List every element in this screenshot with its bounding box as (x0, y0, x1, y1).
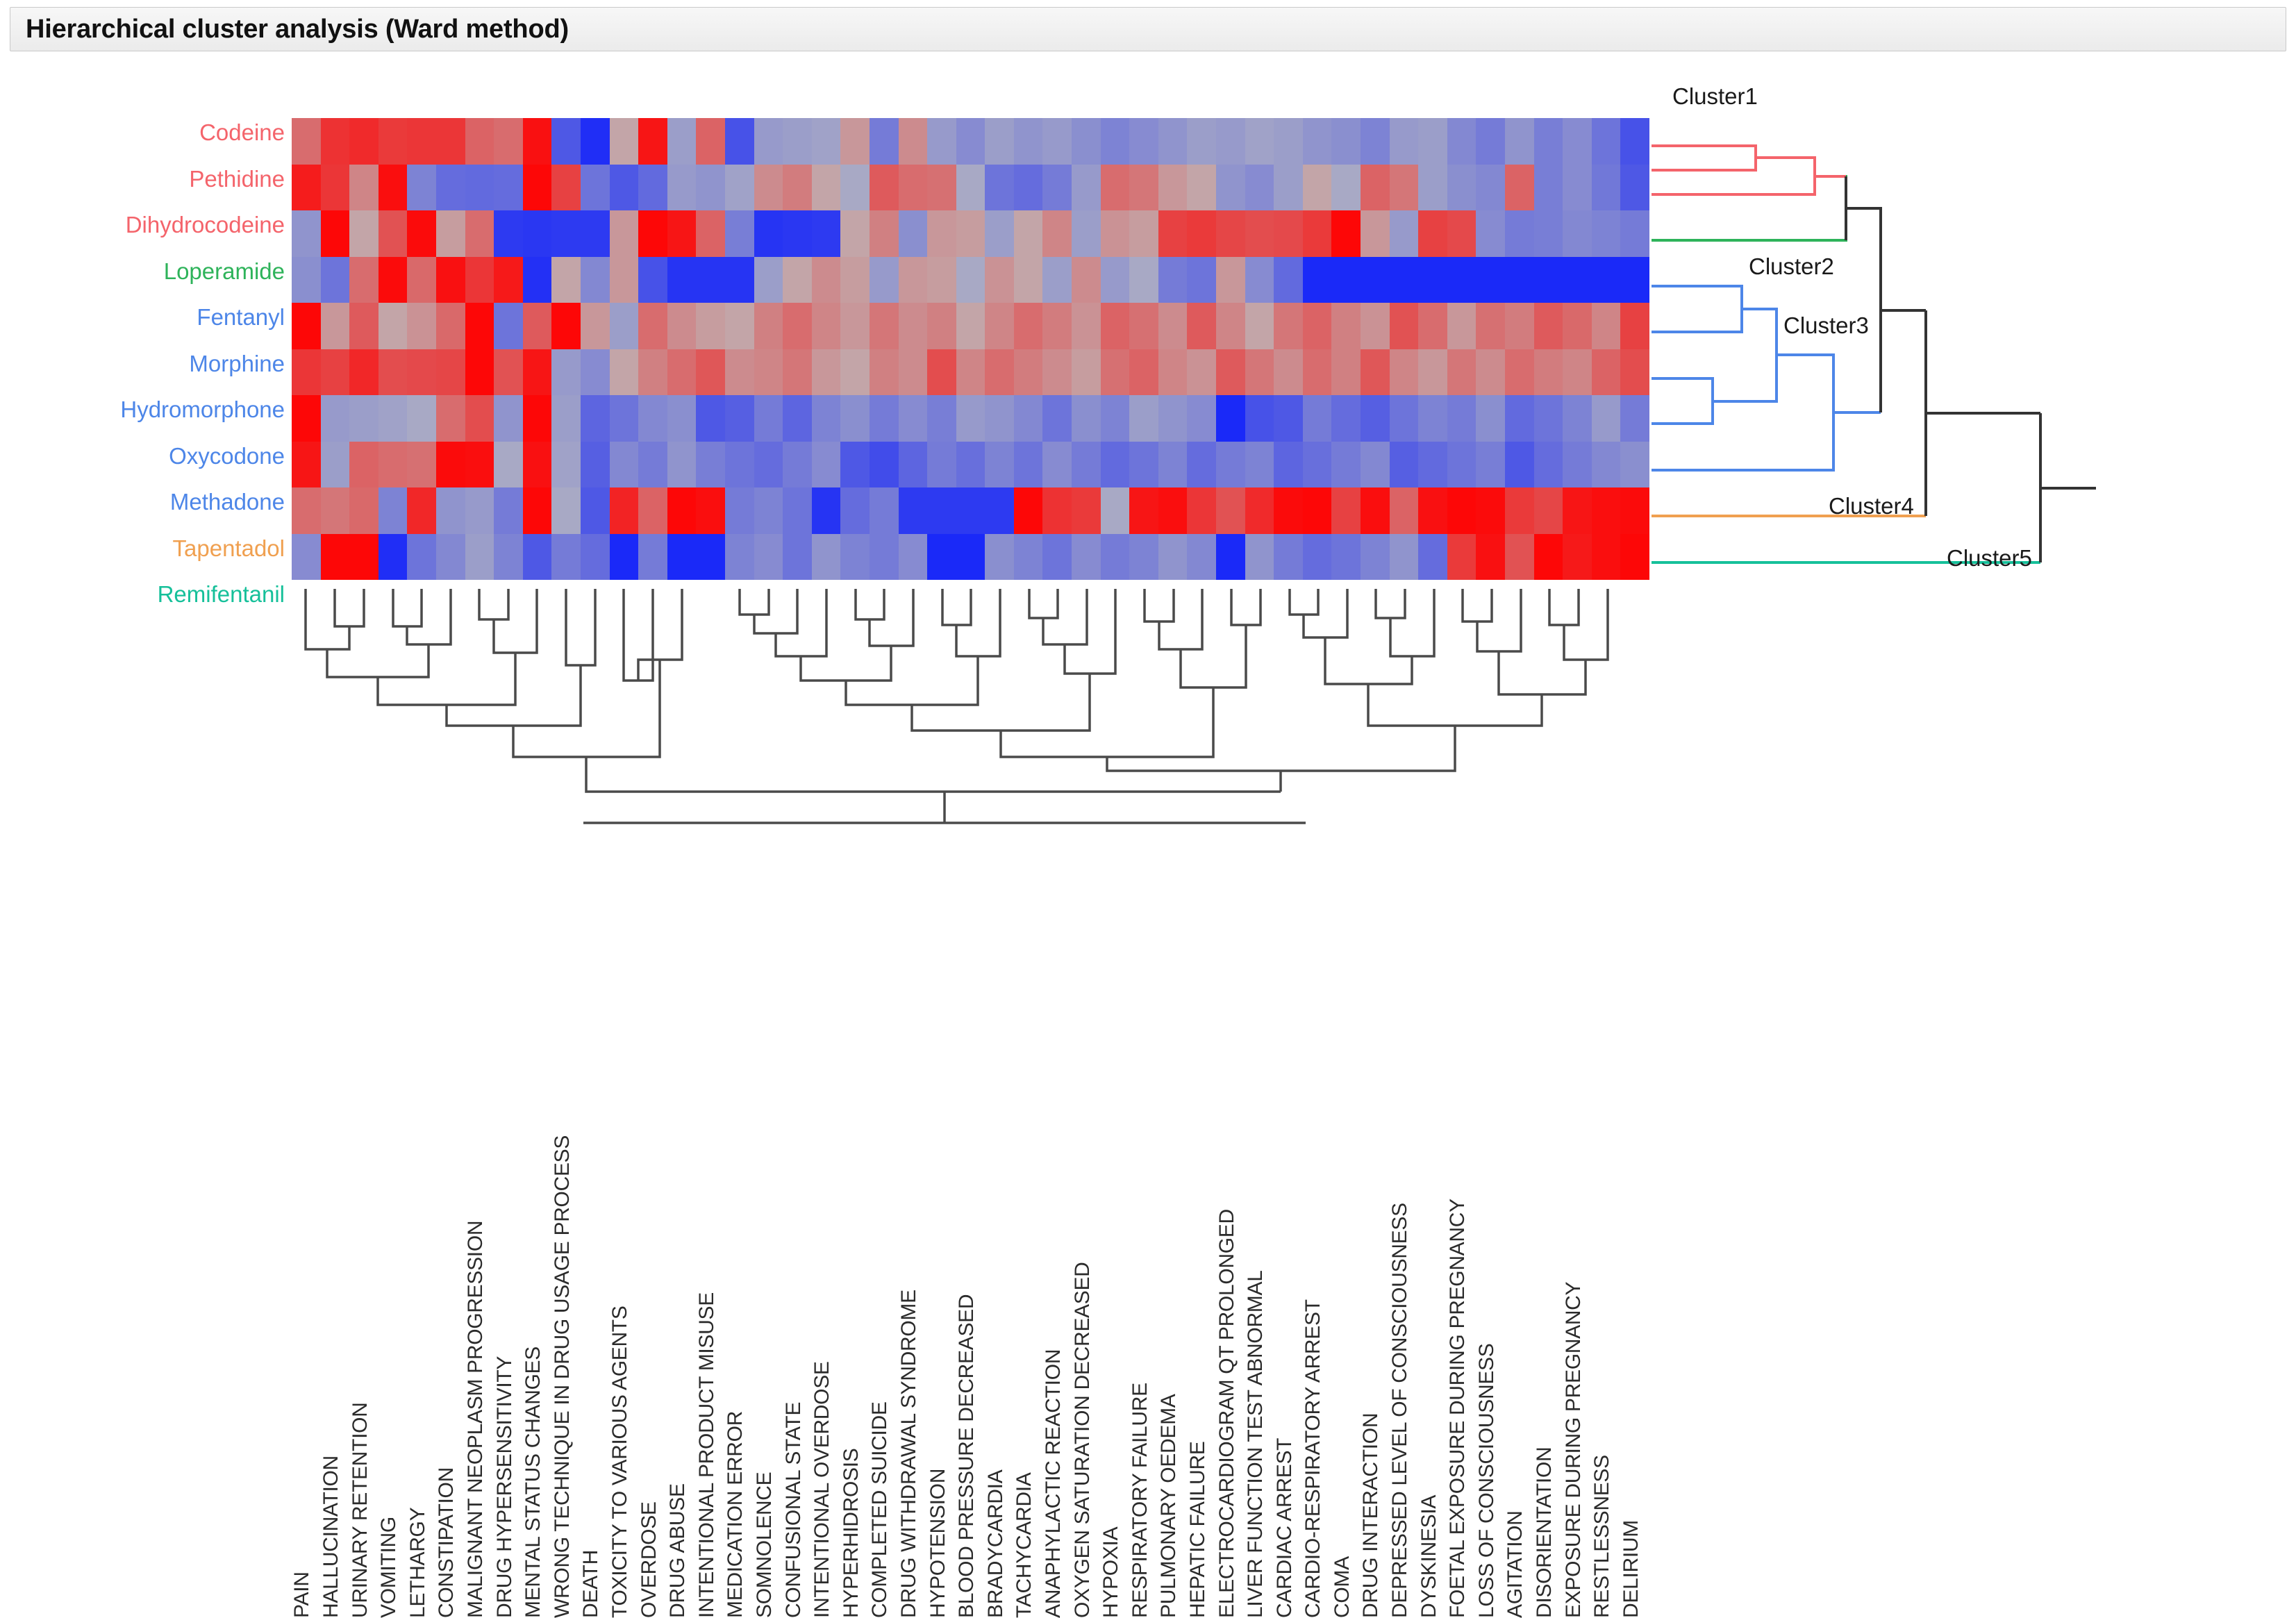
heatmap-cell (1476, 118, 1505, 165)
heatmap-cell (783, 257, 812, 303)
row-label-codeine: Codeine (199, 110, 285, 156)
heatmap-cell (725, 534, 754, 581)
heatmap-cell (1505, 165, 1534, 211)
column-label: AGITATION (1504, 1510, 1527, 1618)
heatmap-cell (1476, 257, 1505, 303)
column-label: TACHYCARDIA (1013, 1473, 1036, 1618)
heatmap-cell (985, 534, 1014, 581)
heatmap-cell (1505, 210, 1534, 257)
heatmap-cell (292, 210, 321, 257)
heatmap-cell (1216, 487, 1245, 534)
column-label: MEDICATION ERROR (724, 1411, 747, 1618)
heatmap-cell (638, 349, 667, 396)
heatmap-cell (494, 303, 523, 349)
heatmap-cell (1274, 118, 1303, 165)
heatmap-cell (436, 257, 465, 303)
heatmap-cell (1331, 534, 1361, 581)
row-label-methadone: Methadone (170, 479, 285, 526)
heatmap-cell (840, 442, 870, 488)
heatmap-cell (1331, 303, 1361, 349)
heatmap-cell (349, 349, 378, 396)
column-label: DYSKINESIA (1417, 1495, 1441, 1618)
column-label: TOXICITY TO VARIOUS AGENTS (608, 1306, 632, 1618)
heatmap-cell (1072, 210, 1101, 257)
heatmap-cell (465, 303, 494, 349)
heatmap-cell (1505, 303, 1534, 349)
heatmap-cell (494, 165, 523, 211)
heatmap-cell (1158, 165, 1188, 211)
heatmap-cell (1390, 257, 1419, 303)
heatmap-cell (985, 487, 1014, 534)
heatmap-cell (551, 349, 581, 396)
heatmap-cell (610, 257, 639, 303)
heatmap-cell (349, 257, 378, 303)
heatmap-cell (725, 210, 754, 257)
heatmap-cell (1303, 210, 1332, 257)
heatmap-cell (1620, 534, 1649, 581)
heatmap-cell (725, 118, 754, 165)
heatmap-cell (1042, 303, 1072, 349)
heatmap-cell (667, 303, 697, 349)
heatmap-cell (465, 210, 494, 257)
heatmap-cell (927, 303, 956, 349)
heatmap-cell (610, 210, 639, 257)
heatmap-cell (1014, 118, 1043, 165)
heatmap-cell (551, 395, 581, 442)
heatmap-cell (1505, 257, 1534, 303)
heatmap-cell (1158, 395, 1188, 442)
heatmap-cell (1331, 395, 1361, 442)
heatmap-cell (840, 395, 870, 442)
column-label: OXYGEN SATURATION DECREASED (1071, 1262, 1095, 1618)
heatmap-cell (465, 257, 494, 303)
heatmap-cell (1101, 349, 1130, 396)
heatmap-cell (1447, 534, 1476, 581)
row-label-remifentanil: Remifentanil (158, 572, 285, 618)
heatmap-cell (1390, 118, 1419, 165)
heatmap-cell (1158, 118, 1188, 165)
heatmap-cell (812, 165, 841, 211)
heatmap-cell (1592, 303, 1621, 349)
heatmap-cell (378, 487, 408, 534)
row-label-column: CodeinePethidineDihydrocodeineLoperamide… (28, 118, 285, 580)
heatmap-cell (985, 442, 1014, 488)
heatmap-cell (1592, 165, 1621, 211)
column-label: LOSS OF CONSCIOUSNESS (1475, 1344, 1499, 1618)
heatmap-cell (349, 210, 378, 257)
heatmap-cell (899, 487, 928, 534)
heatmap-cell (1592, 257, 1621, 303)
heatmap-cell (696, 349, 725, 396)
column-label: MALIGNANT NEOPLASM PROGRESSION (464, 1221, 488, 1618)
heatmap-cell (1620, 487, 1649, 534)
heatmap-cell (985, 349, 1014, 396)
column-label: CONSTIPATION (435, 1467, 458, 1618)
heatmap-cell (581, 442, 610, 488)
row-label-pethidine: Pethidine (189, 156, 285, 203)
heatmap-cell (985, 165, 1014, 211)
heatmap-cell (1187, 257, 1216, 303)
heatmap-cell (1331, 349, 1361, 396)
row-dendrogram-svg (1652, 83, 2221, 597)
heatmap-cell (783, 442, 812, 488)
heatmap-cell (696, 118, 725, 165)
heatmap-cell (1418, 303, 1447, 349)
heatmap-cell (1129, 534, 1158, 581)
heatmap-cell (1361, 534, 1390, 581)
heatmap-cell (1563, 257, 1592, 303)
heatmap-cell (292, 118, 321, 165)
heatmap-cell (581, 165, 610, 211)
heatmap-cell (638, 210, 667, 257)
heatmap-cell (1620, 303, 1649, 349)
heatmap-cell (1303, 395, 1332, 442)
heatmap-cell (1476, 487, 1505, 534)
heatmap-cell (1447, 165, 1476, 211)
heatmap-cell (1447, 303, 1476, 349)
heatmap-cell (1158, 303, 1188, 349)
heatmap-cell (610, 303, 639, 349)
heatmap-cell (465, 165, 494, 211)
heatmap-cell (610, 442, 639, 488)
heatmap-cell (754, 349, 783, 396)
heatmap-cell (494, 534, 523, 581)
heatmap-cell (494, 487, 523, 534)
heatmap-cell (1014, 442, 1043, 488)
heatmap-cell (1101, 395, 1130, 442)
heatmap-cell (378, 118, 408, 165)
heatmap-cell (407, 534, 436, 581)
heatmap-cell (667, 349, 697, 396)
heatmap-cell (870, 442, 899, 488)
heatmap-cell (1563, 303, 1592, 349)
heatmap-cell (1042, 534, 1072, 581)
heatmap-cell (1390, 165, 1419, 211)
heatmap-cell (1129, 442, 1158, 488)
heatmap-cell (725, 395, 754, 442)
heatmap-cell (1620, 349, 1649, 396)
heatmap-cell (870, 118, 899, 165)
heatmap-cell (1361, 165, 1390, 211)
heatmap-cell (1563, 210, 1592, 257)
heatmap-cell (927, 257, 956, 303)
heatmap-cell (956, 210, 985, 257)
column-label: HYPOXIA (1099, 1527, 1123, 1618)
heatmap-cell (1101, 118, 1130, 165)
heatmap-cell (1014, 165, 1043, 211)
heatmap-cell (523, 303, 552, 349)
column-dendrogram-svg (292, 583, 1649, 826)
heatmap-cell (1129, 303, 1158, 349)
heatmap-cell (378, 165, 408, 211)
heatmap-cell (292, 349, 321, 396)
column-label: CONFUSIONAL STATE (782, 1402, 806, 1618)
heatmap-cell (1418, 534, 1447, 581)
heatmap-cell (1129, 487, 1158, 534)
heatmap-cell (1129, 257, 1158, 303)
heatmap-cell (523, 395, 552, 442)
heatmap-cell (783, 487, 812, 534)
heatmap-cell (1418, 442, 1447, 488)
row-label-morphine: Morphine (189, 341, 285, 387)
heatmap-cell (1505, 534, 1534, 581)
heatmap-cell (436, 118, 465, 165)
column-label: LIVER FUNCTION TEST ABNORMAL (1244, 1270, 1267, 1618)
heatmap-cell (349, 534, 378, 581)
heatmap-cell (465, 534, 494, 581)
heatmap-cell (1042, 442, 1072, 488)
heatmap-cell (407, 165, 436, 211)
column-label: EXPOSURE DURING PREGNANCY (1562, 1282, 1586, 1618)
column-label: FOETAL EXPOSURE DURING PREGNANCY (1446, 1199, 1470, 1618)
heatmap-cell (696, 303, 725, 349)
heatmap-cell (551, 534, 581, 581)
heatmap-cell (378, 395, 408, 442)
heatmap-cell (465, 395, 494, 442)
heatmap-cell (581, 118, 610, 165)
heatmap-cell (1534, 534, 1563, 581)
heatmap-cell (1216, 349, 1245, 396)
heatmap-cell (899, 303, 928, 349)
heatmap-cell (378, 534, 408, 581)
heatmap-cell (667, 395, 697, 442)
heatmap-cell (1303, 303, 1332, 349)
heatmap-cell (1129, 118, 1158, 165)
heatmap-cell (1592, 442, 1621, 488)
heatmap-cell (1101, 534, 1130, 581)
heatmap-cell (1390, 487, 1419, 534)
heatmap-cell (1274, 395, 1303, 442)
figure-title-bar: Hierarchical cluster analysis (Ward meth… (10, 7, 2286, 51)
heatmap-cell (783, 534, 812, 581)
heatmap-cell (812, 534, 841, 581)
heatmap-cell (436, 487, 465, 534)
heatmap-cell (1042, 165, 1072, 211)
heatmap-cell (1014, 303, 1043, 349)
heatmap-cell (754, 395, 783, 442)
heatmap-cell (725, 349, 754, 396)
heatmap-cell (667, 165, 697, 211)
heatmap-cell (899, 534, 928, 581)
heatmap-cell (1534, 442, 1563, 488)
heatmap-cell (1158, 257, 1188, 303)
heatmap-cell (1245, 210, 1274, 257)
cluster-label-5: Cluster5 (1947, 545, 2032, 572)
heatmap-cell (899, 118, 928, 165)
heatmap-cell (1418, 210, 1447, 257)
heatmap-cell (1072, 303, 1101, 349)
heatmap-cell (551, 210, 581, 257)
heatmap-cell (1216, 118, 1245, 165)
heatmap-cell (667, 210, 697, 257)
heatmap-cell (1042, 118, 1072, 165)
column-label: DRUG ABUSE (666, 1483, 690, 1618)
heatmap-cell (1534, 303, 1563, 349)
heatmap-cell (870, 257, 899, 303)
heatmap-cell (349, 303, 378, 349)
heatmap-cell (956, 442, 985, 488)
heatmap-cell (696, 487, 725, 534)
heatmap-cell (1563, 349, 1592, 396)
heatmap-cell (321, 349, 350, 396)
column-label: PULMONARY OEDEMA (1157, 1394, 1181, 1618)
heatmap-cell (1072, 118, 1101, 165)
column-label: DRUG HYPERSENSITIVITY (493, 1356, 517, 1618)
heatmap-cell (870, 303, 899, 349)
heatmap-cell (1361, 349, 1390, 396)
row-label-dihydrocodeine: Dihydrocodeine (126, 202, 285, 249)
heatmap-cell (1014, 210, 1043, 257)
heatmap-cell (956, 303, 985, 349)
column-label-row: PAINHALLUCINATIONURINARY RETENTIONVOMITI… (292, 830, 1649, 1618)
heatmap-cell (812, 257, 841, 303)
heatmap-cell (378, 303, 408, 349)
heatmap-cell (1620, 210, 1649, 257)
heatmap-cell (551, 442, 581, 488)
heatmap-cell (465, 487, 494, 534)
heatmap-cell (407, 349, 436, 396)
heatmap-cell (696, 257, 725, 303)
heatmap-cell (523, 165, 552, 211)
heatmap-cell (1563, 165, 1592, 211)
heatmap-cell (1620, 257, 1649, 303)
heatmap-cell (610, 534, 639, 581)
heatmap-cell (840, 165, 870, 211)
heatmap-cell (667, 534, 697, 581)
heatmap-cell (696, 165, 725, 211)
heatmap-cell (1187, 210, 1216, 257)
heatmap-cell (292, 534, 321, 581)
column-label: HYPERHIDROSIS (840, 1449, 863, 1618)
heatmap-cell (783, 395, 812, 442)
column-label: BLOOD PRESSURE DECREASED (955, 1294, 979, 1618)
heatmap-cell (1592, 118, 1621, 165)
heatmap-cell (754, 118, 783, 165)
heatmap-cell (436, 349, 465, 396)
heatmap-cell (1505, 349, 1534, 396)
heatmap-cell (1390, 349, 1419, 396)
heatmap-cell (840, 349, 870, 396)
heatmap-cell (1418, 487, 1447, 534)
heatmap-cell (754, 534, 783, 581)
heatmap-cell (985, 118, 1014, 165)
heatmap-cell (1274, 442, 1303, 488)
heatmap-cell (1534, 165, 1563, 211)
heatmap-cell (1418, 165, 1447, 211)
heatmap-cell (610, 395, 639, 442)
heatmap-cell (1361, 210, 1390, 257)
heatmap-cell (1072, 395, 1101, 442)
heatmap-cell (1620, 442, 1649, 488)
heatmap-cell (581, 303, 610, 349)
column-label: ANAPHYLACTIC REACTION (1042, 1349, 1065, 1618)
heatmap-cell (1390, 303, 1419, 349)
heatmap-cell (840, 210, 870, 257)
heatmap-cell (465, 118, 494, 165)
heatmap-cell (1592, 487, 1621, 534)
heatmap-cell (1101, 210, 1130, 257)
column-label: VOMITING (377, 1517, 401, 1618)
heatmap-cell (1361, 395, 1390, 442)
heatmap-cell (1390, 395, 1419, 442)
heatmap-cell (1014, 349, 1043, 396)
heatmap-cell (956, 165, 985, 211)
heatmap-cell (1534, 487, 1563, 534)
heatmap-cell (1187, 395, 1216, 442)
heatmap-cell (927, 487, 956, 534)
heatmap-cell (494, 210, 523, 257)
heatmap-cell (494, 257, 523, 303)
heatmap-cell (610, 349, 639, 396)
heatmap-cell (1505, 442, 1534, 488)
heatmap-cell (1101, 165, 1130, 211)
heatmap-cell (840, 487, 870, 534)
heatmap-cell (1245, 534, 1274, 581)
heatmap-cell (1331, 442, 1361, 488)
heatmap-cell (1418, 395, 1447, 442)
heatmap-cell (1447, 210, 1476, 257)
row-dendrogram: Cluster1Cluster2Cluster3Cluster4Cluster5 (1652, 83, 2221, 597)
heatmap-cell (1245, 395, 1274, 442)
heatmap-cell (1187, 487, 1216, 534)
column-label: OVERDOSE (638, 1501, 661, 1618)
heatmap-cell (581, 257, 610, 303)
heatmap-cell (1158, 534, 1188, 581)
column-label: INTENTIONAL OVERDOSE (810, 1361, 834, 1618)
heatmap-cell (523, 349, 552, 396)
column-label: BRADYCARDIA (984, 1470, 1008, 1618)
heatmap-cell (1274, 257, 1303, 303)
heatmap-cell (812, 395, 841, 442)
heatmap-cell (1390, 210, 1419, 257)
heatmap-cell (436, 210, 465, 257)
page-title: Hierarchical cluster analysis (Ward meth… (26, 15, 569, 44)
column-label: WRONG TECHNIQUE IN DRUG USAGE PROCESS (551, 1135, 574, 1618)
heatmap-cell (754, 442, 783, 488)
heatmap-cell (378, 349, 408, 396)
heatmap-cell (292, 395, 321, 442)
heatmap-cell (436, 534, 465, 581)
heatmap-cell (465, 442, 494, 488)
hierarchical-cluster-figure: Hierarchical cluster analysis (Ward meth… (0, 0, 2296, 1618)
heatmap-cell (1331, 210, 1361, 257)
heatmap-cell (292, 165, 321, 211)
heatmap-cell (1187, 534, 1216, 581)
column-label: DISORIENTATION (1533, 1447, 1556, 1618)
heatmap-cell (292, 442, 321, 488)
column-label: SOMNOLENCE (753, 1472, 776, 1618)
heatmap-cell (870, 534, 899, 581)
heatmap-cell (378, 442, 408, 488)
heatmap-cell (1447, 442, 1476, 488)
heatmap-cell (1072, 349, 1101, 396)
heatmap-cell (1620, 395, 1649, 442)
heatmap-cell (1158, 210, 1188, 257)
heatmap-cell (292, 303, 321, 349)
heatmap-cell (1476, 165, 1505, 211)
column-label: CARDIO-RESPIRATORY ARREST (1301, 1299, 1325, 1618)
heatmap-cell (812, 210, 841, 257)
heatmap-cell (927, 534, 956, 581)
heatmap-cell (1476, 395, 1505, 442)
heatmap-cell (321, 534, 350, 581)
heatmap-cell (927, 442, 956, 488)
heatmap-cell (1014, 257, 1043, 303)
heatmap-cell (783, 349, 812, 396)
column-label: HEPATIC FAILURE (1186, 1442, 1210, 1618)
heatmap-cell (321, 165, 350, 211)
heatmap-cell (1592, 210, 1621, 257)
